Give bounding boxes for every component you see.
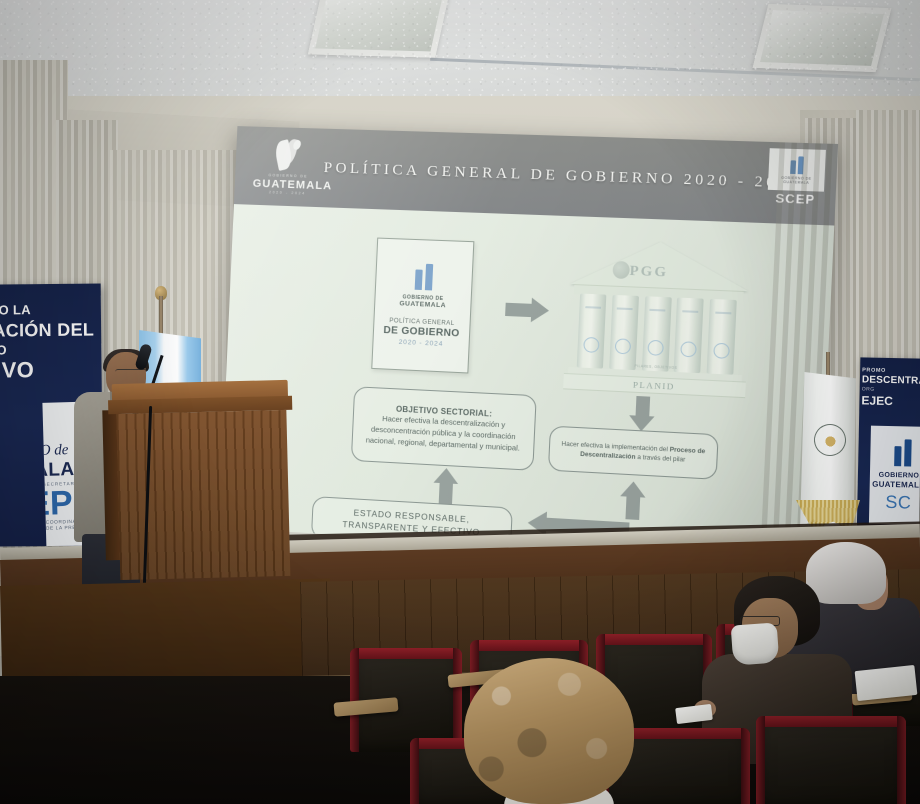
ceiling-crack (430, 58, 920, 82)
temple-column (609, 295, 639, 370)
banner-left-line-2: CACIÓN DEL (0, 319, 101, 340)
proceso-text-c: a través del pilar (635, 454, 685, 464)
objetivo-sectorial-box: OBJETIVO SECTORIAL: Hacer efectiva la de… (351, 386, 537, 471)
speaker-glasses (115, 369, 147, 377)
objetivo-text: Hacer efectiva la descentralización y de… (366, 414, 521, 452)
proceso-text-a: Hacer efectiva la implementación del (561, 441, 670, 454)
scep-badge: GOBIERNO DE GUATEMALA SCEP (762, 148, 832, 208)
person-curly-hair (464, 658, 634, 804)
scep-mark-sub: GOBIERNO DE GUATEMALA (768, 175, 825, 185)
slide-body: GOBIERNO DE GUATEMALA POLÍTICA GENERAL D… (219, 204, 834, 564)
auditorium-seat (756, 716, 906, 804)
slide-title: POLÍTICA GENERAL DE GOBIERNO 2020 - 2024 (323, 159, 802, 192)
scep-mark-icon (790, 156, 804, 174)
paper-document (855, 665, 918, 701)
quetzal-bird-icon (271, 138, 307, 173)
temple-pediment-label: PGG (629, 264, 668, 282)
banner-left-card-acronym: EP (42, 486, 73, 521)
projection-screen: GOBIERNO DE GUATEMALA 2020 - 2024 POLÍTI… (219, 126, 839, 580)
banner-right-card-acronym: SC (885, 491, 911, 512)
ceiling-light-panel (308, 0, 450, 58)
temple-column (674, 298, 704, 374)
banner-right-line-1: PROMO (862, 366, 920, 375)
auditorium-presentation-photo: GOBIERNO DE GUATEMALA 2020 - 2024 POLÍTI… (0, 0, 920, 804)
scep-acronym: SCEP (762, 191, 830, 208)
banner-left-line-1: DO LA (0, 299, 101, 320)
audience-person-blonde (464, 658, 634, 804)
banner-right-logo-card: GOBIERNO GUATEMALA SC (869, 426, 920, 525)
temple-column (707, 299, 737, 375)
cover-guatemala-line: GUATEMALA (399, 300, 446, 310)
cover-line-3: 2020 - 2024 (399, 339, 444, 348)
institutional-flag-emblem (810, 420, 850, 460)
cover-line-2: DE GOBIERNO (383, 325, 460, 340)
ceiling-light-panel (753, 4, 892, 72)
guatemala-logo: GOBIERNO DE GUATEMALA 2020 - 2024 (252, 138, 325, 197)
banner-left-card-line-2: ALA (42, 459, 74, 482)
temple-column (641, 296, 671, 371)
banner-right-card-guatemala: GUATEMALA (872, 479, 920, 490)
podium-body (116, 410, 290, 580)
proceso-descentralizacion-box: Hacer efectiva la implementación del Pro… (548, 426, 719, 480)
scep-logo-box: GOBIERNO DE GUATEMALA (768, 148, 826, 191)
banner-left-card-line-1: O de (42, 442, 68, 460)
pgg-cover-card: GOBIERNO DE GUATEMALA POLÍTICA GENERAL D… (371, 238, 474, 374)
gobierno-mark-icon (415, 263, 434, 290)
temple-column (577, 294, 607, 369)
wooden-podium (112, 380, 293, 580)
banner-right-line-3: ORG (862, 386, 920, 394)
face-mask-icon (731, 622, 780, 665)
pgg-temple-graphic: PGG PILARES, OBJETIVOS PLANID (565, 239, 750, 399)
banner-right-line-4: EJEC (861, 393, 920, 408)
temple-columns (577, 294, 737, 375)
banner-right-headline: PROMO DESCENTRA ORG EJEC (859, 357, 920, 408)
gobierno-mark-icon (894, 439, 912, 466)
audience-person-masked (718, 576, 846, 726)
screen-frame: GOBIERNO DE GUATEMALA 2020 - 2024 POLÍTI… (219, 126, 839, 580)
